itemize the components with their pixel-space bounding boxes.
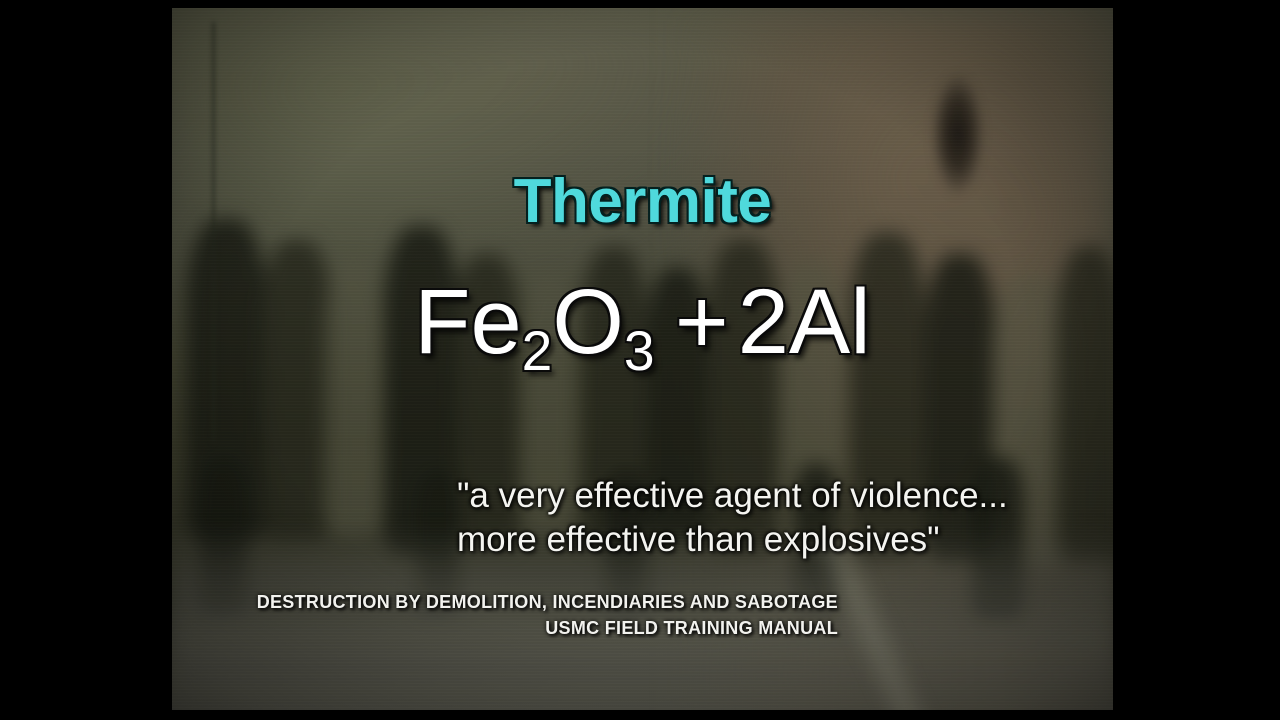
letterbox-bottom	[0, 710, 1280, 720]
formula-reactant-1-subscript-2: 3	[624, 320, 655, 382]
formula-operator: +	[655, 271, 738, 373]
attribution-line-2: USMC FIELD TRAINING MANUAL	[172, 615, 838, 641]
slide-title: Thermite	[172, 171, 1113, 233]
quote-line-2: more effective than explosives"	[457, 518, 1113, 562]
pillarbox-left	[0, 0, 172, 720]
video-frame: Thermite Fe2O3+2Al "a very effective age…	[172, 8, 1113, 710]
attribution-block: DESTRUCTION BY DEMOLITION, INCENDIARIES …	[172, 589, 838, 641]
formula-reactant-1-subscript: 2	[522, 320, 553, 382]
letterbox-top	[0, 0, 1280, 8]
video-stage: Thermite Fe2O3+2Al "a very effective age…	[0, 0, 1280, 720]
formula-reactant-1-element-2: O	[552, 271, 624, 373]
formula-reactant-2: 2Al	[738, 271, 871, 373]
pillarbox-right	[1113, 0, 1280, 720]
text-overlay: Thermite Fe2O3+2Al "a very effective age…	[172, 8, 1113, 710]
quote-line-1: "a very effective agent of violence...	[457, 474, 1113, 518]
chemical-formula: Fe2O3+2Al	[172, 276, 1113, 368]
attribution-line-1: DESTRUCTION BY DEMOLITION, INCENDIARIES …	[172, 589, 838, 615]
quote-block: "a very effective agent of violence... m…	[457, 474, 1113, 562]
formula-reactant-1-element: Fe	[414, 271, 521, 373]
